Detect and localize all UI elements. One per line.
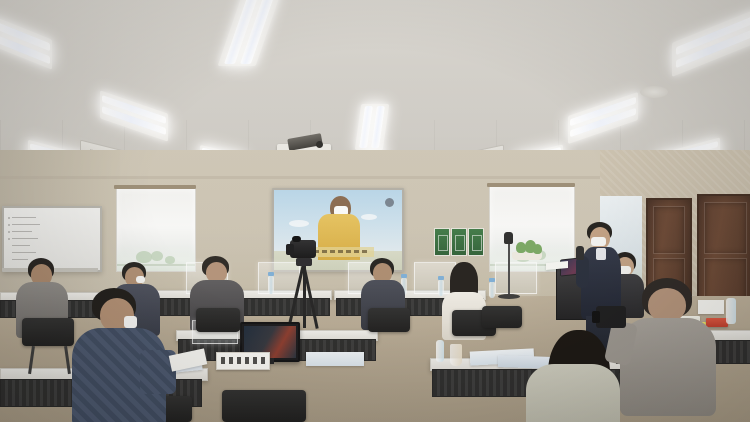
wall-poster	[468, 228, 484, 256]
water-bottle	[489, 282, 495, 298]
microphone-icon	[504, 232, 513, 244]
shirt-collar	[596, 248, 606, 260]
wall-trim	[0, 176, 600, 179]
acrylic-partition	[495, 262, 537, 294]
camera-lens-icon	[292, 236, 301, 242]
plant-leaf	[533, 244, 542, 254]
head	[648, 288, 686, 322]
whiteboard	[2, 206, 102, 272]
printed-documents	[698, 300, 724, 314]
face-mask	[136, 276, 145, 283]
face-mask	[591, 237, 606, 246]
face-mask	[124, 316, 137, 328]
room-photo	[0, 0, 750, 422]
bottle-cap-icon	[438, 276, 444, 280]
stacking-chair[interactable]	[196, 308, 240, 332]
bottle-cap-icon	[489, 278, 495, 282]
camera-lens-hood	[286, 244, 294, 255]
bottle-cap-icon	[401, 274, 407, 278]
arm	[576, 256, 589, 288]
stacking-chair[interactable]	[368, 308, 410, 332]
stacking-chair[interactable]	[222, 390, 306, 422]
stacking-chair[interactable]	[482, 306, 522, 328]
microphone-stand	[508, 238, 510, 298]
blind-rail	[114, 185, 196, 189]
smoke-detector-icon	[640, 86, 668, 98]
water-bottle	[438, 280, 444, 296]
iced-coffee-cup	[450, 344, 462, 366]
torso	[526, 364, 620, 422]
microphone-stand-base	[498, 294, 520, 299]
handheld-microphone	[576, 246, 584, 260]
stacking-chair[interactable]	[22, 318, 74, 346]
document-folder	[706, 318, 728, 327]
wall-poster	[434, 228, 450, 256]
hand-sanitizer-bottle	[436, 340, 444, 362]
wall-poster	[451, 228, 467, 256]
tripod-leg	[303, 264, 306, 328]
projector-lens-icon	[316, 141, 323, 148]
roller-blind	[116, 188, 196, 272]
printed-documents	[306, 352, 364, 366]
tripod-head	[296, 258, 312, 266]
bottle-cap-icon	[268, 272, 274, 276]
camera-held-icon	[596, 306, 626, 328]
camera-lens-icon	[592, 311, 600, 323]
blind-rail	[487, 183, 575, 187]
acrylic-partition	[258, 262, 300, 294]
name-placard-text	[221, 357, 265, 364]
water-bottle	[268, 276, 274, 294]
hand-sanitizer-bottle	[726, 298, 736, 324]
name-placard	[216, 352, 270, 370]
